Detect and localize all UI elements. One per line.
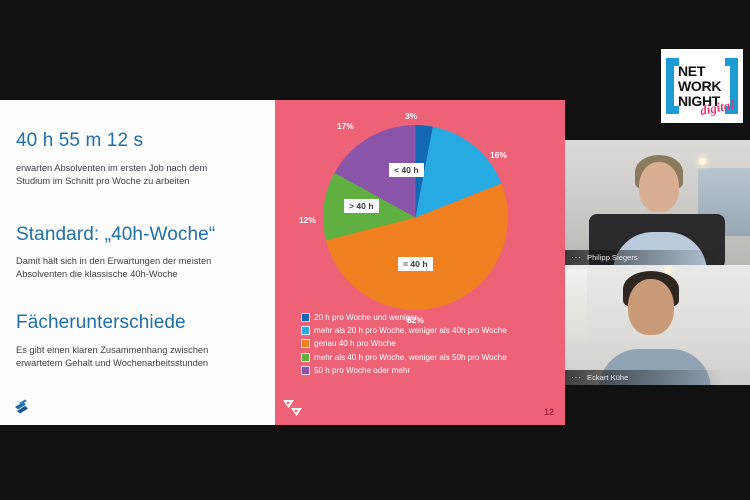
- slide-body-2-line2: Absolventen die klassische 40h-Woche: [16, 269, 178, 279]
- legend-label: 20 h pro Woche und weniger: [314, 313, 417, 322]
- pie-callout-equal-40h: = 40 h: [398, 257, 433, 271]
- pie-value-label-50hplus: 17%: [337, 121, 354, 131]
- legend-swatch-icon: [301, 339, 310, 348]
- video-feed: [565, 140, 750, 265]
- pie-callout-less-than-40h: < 40 h: [389, 163, 424, 177]
- participant-tile[interactable]: ··· Eckart Kühe: [565, 265, 750, 385]
- slide-chart-panel: 3% 16% 52% 12% 17% < 40 h = 40 h > 40 h …: [275, 100, 565, 425]
- pie-value-label-20h: 3%: [405, 111, 417, 121]
- legend-label: mehr als 20 h pro Woche, weniger als 40h…: [314, 326, 507, 335]
- legend-item: 20 h pro Woche und weniger: [301, 313, 563, 322]
- legend-item: mehr als 40 h pro Woche, weniger als 50h…: [301, 353, 563, 362]
- more-options-icon[interactable]: ···: [571, 253, 582, 262]
- ceiling-light: [665, 267, 671, 273]
- slide-body-3: Es gibt einen klaren Zusammenhang zwisch…: [16, 344, 251, 370]
- ceiling-light: [699, 158, 706, 165]
- more-options-icon[interactable]: ···: [571, 373, 582, 382]
- legend-item: genau 40 h pro Woche: [301, 339, 563, 348]
- pie-value-label-40to50h: 12%: [299, 215, 316, 225]
- participant-name: Philipp Siegers: [587, 253, 638, 262]
- legend-label: mehr als 40 h pro Woche, weniger als 50h…: [314, 353, 507, 362]
- video-call-stage: NET WORK NIGHT digital 40 h 55 m 12 s er…: [0, 0, 750, 500]
- pie-callout-more-than-40h: > 40 h: [344, 199, 379, 213]
- slide-body-1: erwarten Absolventen im ersten Job nach …: [16, 162, 251, 188]
- window-background: [565, 269, 587, 343]
- logo-bracket-left-icon: [666, 58, 674, 114]
- legend-item: mehr als 20 h pro Woche, weniger als 40h…: [301, 326, 563, 335]
- participant-name: Eckart Kühe: [587, 373, 628, 382]
- pie-value-label-20to40h: 16%: [490, 150, 507, 160]
- slide-body-3-line2: erwartetem Gehalt und Wochenarbeitsstund…: [16, 358, 208, 368]
- participant-name-bar: ··· Eckart Kühe: [565, 370, 750, 385]
- logo-line-1: NET: [678, 64, 705, 79]
- slide-body-3-line1: Es gibt einen klaren Zusammenhang zwisch…: [16, 345, 208, 355]
- participant-name-bar: ··· Philipp Siegers: [565, 250, 750, 265]
- legend-swatch-icon: [301, 353, 310, 362]
- slide-heading-1: 40 h 55 m 12 s: [16, 130, 143, 152]
- slide-text-panel: 40 h 55 m 12 s erwarten Absolventen im e…: [0, 100, 275, 425]
- legend-swatch-icon: [301, 313, 310, 322]
- slide-number: 12: [544, 407, 554, 417]
- pie-chart: 3% 16% 52% 12% 17% < 40 h = 40 h > 40 h: [323, 125, 508, 310]
- slide-body-1-line1: erwarten Absolventen im ersten Job nach …: [16, 163, 207, 173]
- legend-swatch-icon: [301, 326, 310, 335]
- slide-body-1-line2: Studium im Schnitt pro Woche zu arbeiten: [16, 176, 189, 186]
- legend-swatch-icon: [301, 366, 310, 375]
- participant-tile[interactable]: ··· Philipp Siegers: [565, 140, 750, 265]
- pie-chart-slices: [323, 125, 508, 310]
- chart-legend: 20 h pro Woche und weniger mehr als 20 h…: [301, 313, 563, 379]
- slide-heading-2: Standard: „40h-Woche“: [16, 224, 215, 246]
- video-feed: [565, 265, 750, 385]
- face: [628, 279, 674, 335]
- slide-heading-3: Fächerunterschiede: [16, 312, 186, 334]
- presenter-mark-logo: [281, 397, 305, 419]
- slide-body-2: Damit hält sich in den Erwartungen der m…: [16, 255, 251, 281]
- legend-item: 50 h pro Woche oder mehr: [301, 366, 563, 375]
- slide-body-2-line1: Damit hält sich in den Erwartungen der m…: [16, 256, 211, 266]
- face: [639, 162, 679, 212]
- legend-label: 50 h pro Woche oder mehr: [314, 366, 410, 375]
- logo-line-2: WORK: [678, 79, 721, 94]
- stepstone-logo: [10, 393, 34, 417]
- legend-label: genau 40 h pro Woche: [314, 339, 396, 348]
- shared-slide[interactable]: 40 h 55 m 12 s erwarten Absolventen im e…: [0, 100, 565, 425]
- network-night-digital-logo: NET WORK NIGHT digital: [661, 49, 743, 123]
